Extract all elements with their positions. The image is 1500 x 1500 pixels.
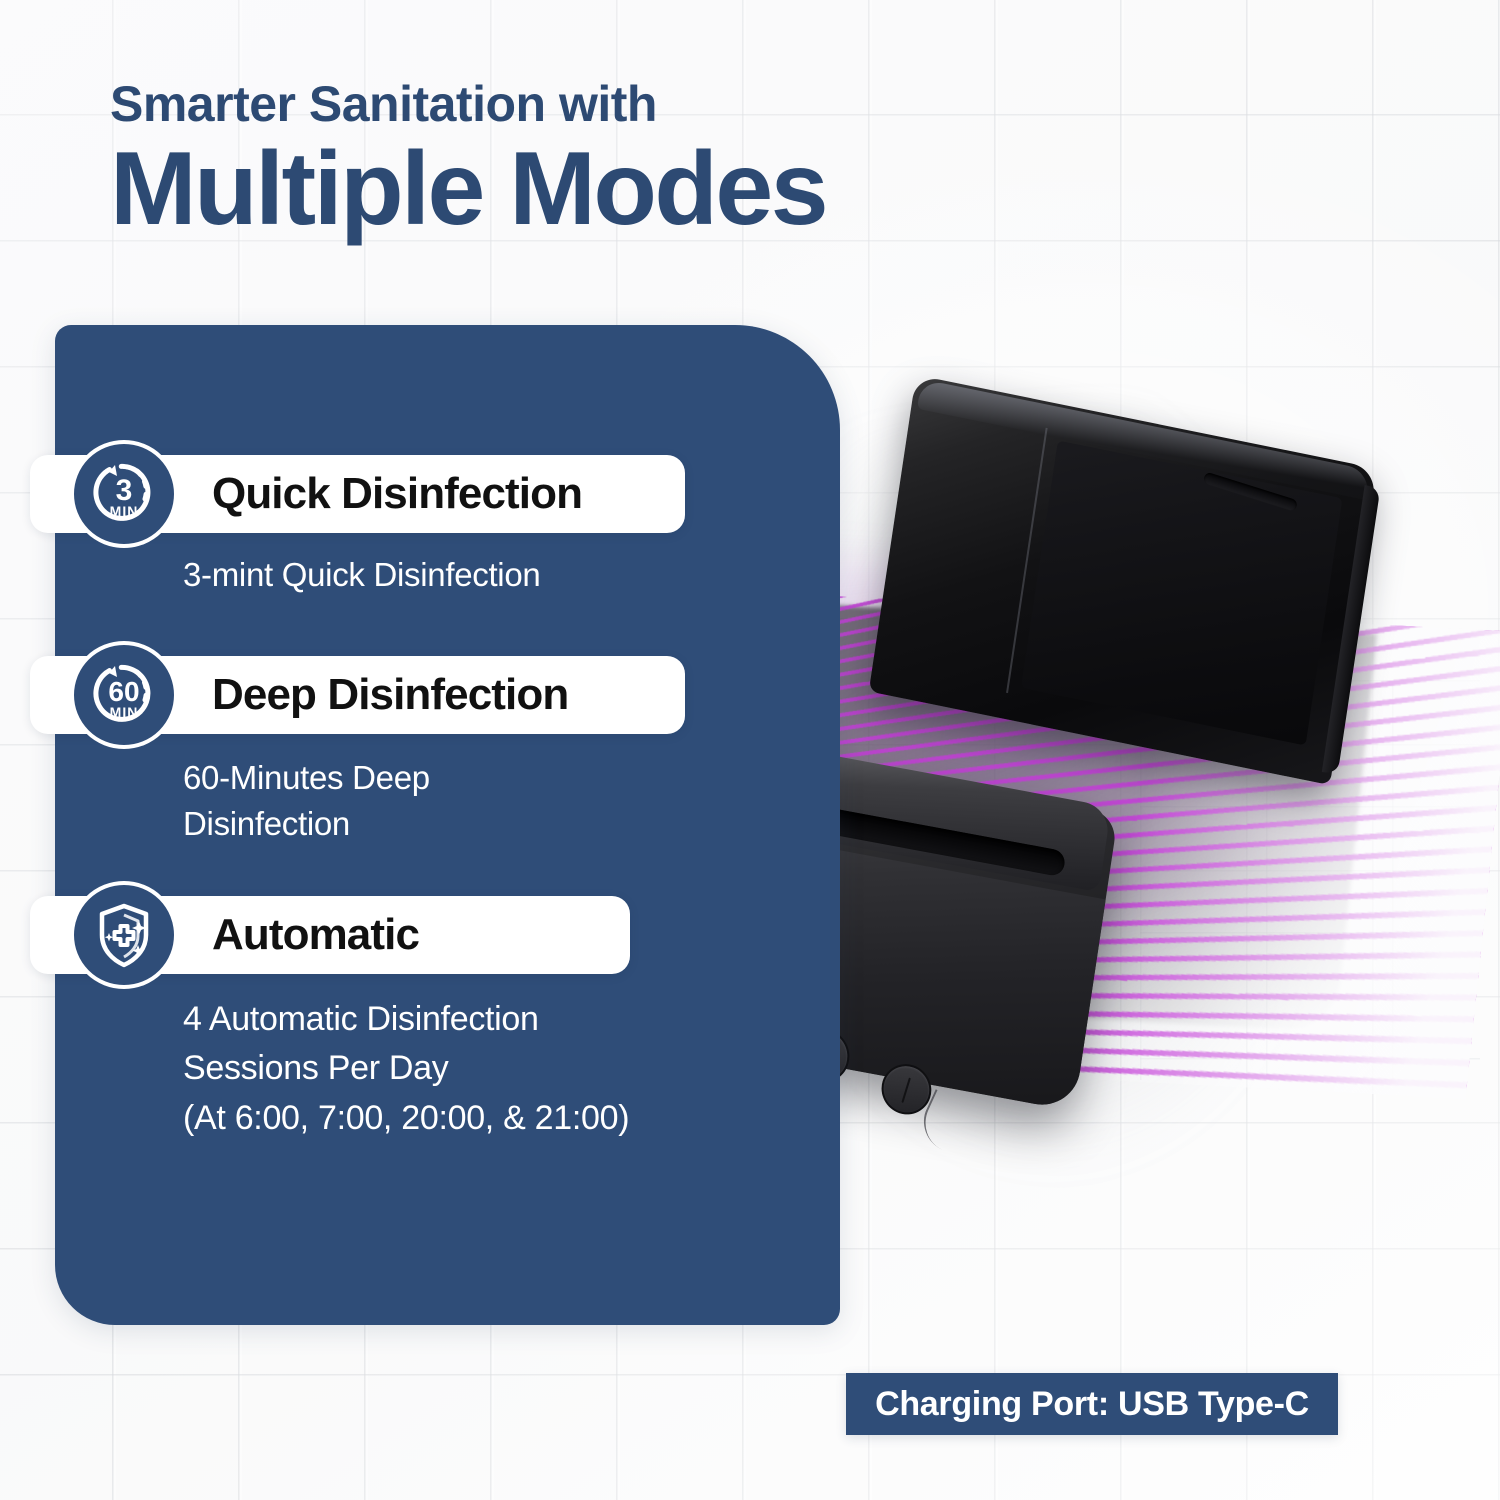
feature-description: 60-Minutes Deep Disinfection [183,755,430,846]
feature-title: Automatic [212,910,419,960]
headline-line-2: Multiple Modes [110,137,1110,241]
svg-text:MIN: MIN [110,704,139,720]
infographic-page: Smarter Sanitation with Multiple Modes [0,0,1500,1500]
svg-text:MIN: MIN [110,503,139,519]
headline-line-1: Smarter Sanitation with [110,78,1110,131]
svg-text:60: 60 [108,676,139,707]
feature-title: Quick Disinfection [212,469,582,519]
shield-medical-sparkle-icon [70,881,178,989]
page-title: Smarter Sanitation with Multiple Modes [110,78,1110,241]
timer-3-min-icon: 3 MIN [70,440,178,548]
feature-title: Deep Disinfection [212,670,568,720]
charging-port-badge: Charging Port: USB Type-C [846,1373,1338,1435]
feature-description: 4 Automatic Disinfection Sessions Per Da… [183,995,629,1143]
feature-description: 3-mint Quick Disinfection [183,552,540,598]
timer-60-min-icon: 60 MIN [70,641,178,749]
